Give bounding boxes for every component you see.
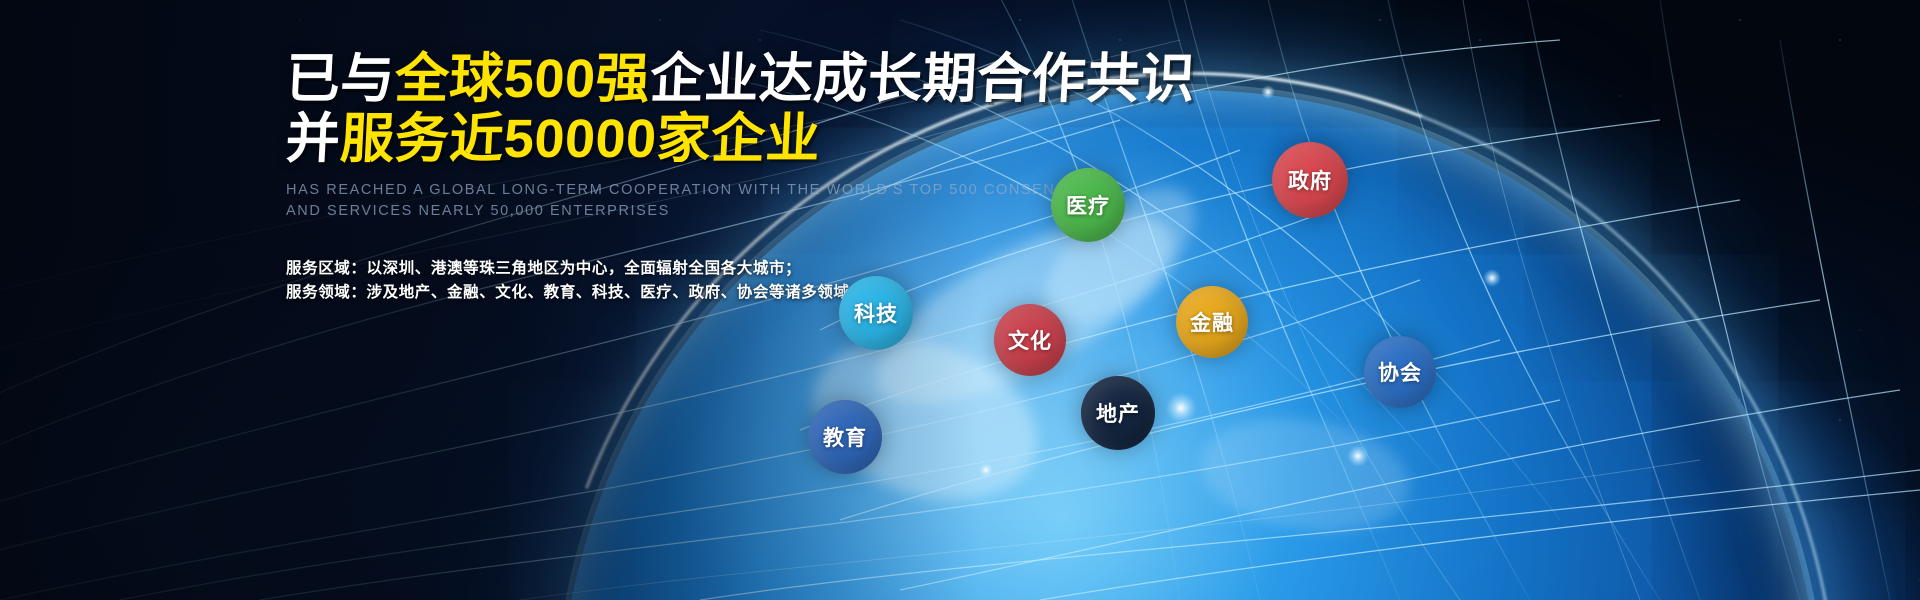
service-area-line: 服务区域：以深圳、港澳等珠三角地区为中心，全面辐射全国各大城市； — [286, 257, 1046, 281]
english-line-1: HAS REACHED A GLOBAL LONG-TERM COOPERATI… — [286, 180, 1046, 201]
headline-line-2: 并服务近50000家企业 — [285, 112, 1048, 166]
english-subtitle: HAS REACHED A GLOBAL LONG-TERM COOPERATI… — [286, 180, 1046, 221]
badge-label: 教育 — [823, 422, 867, 452]
badge-label: 金融 — [1190, 307, 1234, 337]
promotional-banner: 已与全球500强企业达成长期合作共识 并服务近50000家企业 HAS REAC… — [0, 0, 1920, 600]
service-field-line: 服务领域：涉及地产、金融、文化、教育、科技、医疗、政府、协会等诸多领域。 — [286, 281, 1046, 305]
headline-line-1: 已与全球500强企业达成长期合作共识 — [285, 52, 1048, 106]
badge-3[interactable]: 协会 — [1364, 336, 1436, 408]
badge-6[interactable]: 地产 — [1081, 376, 1155, 450]
headline-seg-1: 已与 — [284, 49, 396, 109]
badge-4[interactable]: 文化 — [994, 304, 1066, 376]
headline-seg-5: 服务近50000家企业 — [339, 109, 822, 169]
badge-label: 科技 — [854, 298, 898, 328]
badge-1[interactable]: 医疗 — [1051, 168, 1125, 242]
badge-label: 政府 — [1288, 165, 1332, 195]
badge-label: 地产 — [1096, 398, 1140, 428]
badge-0[interactable]: 政府 — [1272, 142, 1348, 218]
badge-label: 协会 — [1378, 357, 1422, 387]
badge-5[interactable]: 科技 — [839, 276, 913, 350]
badge-label: 医疗 — [1066, 190, 1110, 220]
badge-2[interactable]: 金融 — [1176, 286, 1248, 358]
badge-7[interactable]: 教育 — [808, 400, 882, 474]
badge-label: 文化 — [1008, 325, 1052, 355]
headline-seg-3: 企业达成长期合作共识 — [649, 49, 1197, 109]
headline-seg-4: 并 — [284, 109, 342, 169]
body-text-block: 服务区域：以深圳、港澳等珠三角地区为中心，全面辐射全国各大城市； 服务领域：涉及… — [286, 257, 1046, 305]
headline-seg-2: 全球500强 — [393, 49, 651, 109]
english-line-2: AND SERVICES NEARLY 50,000 ENTERPRISES — [286, 201, 1046, 222]
copy-block: 已与全球500强企业达成长期合作共识 并服务近50000家企业 HAS REAC… — [286, 52, 1046, 305]
